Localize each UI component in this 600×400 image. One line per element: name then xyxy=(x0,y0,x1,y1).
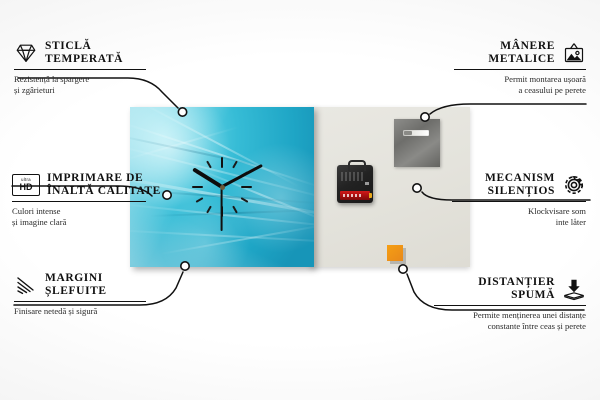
feature-description: Permite menținerea unei distanțe constan… xyxy=(418,310,586,331)
diamond-icon xyxy=(14,41,38,65)
feature-rule xyxy=(14,301,146,302)
feature-description: Permit montarea ușoară a ceasului pe per… xyxy=(436,74,586,95)
feature-header: MÂNERE METALICE xyxy=(436,40,586,66)
product-photo xyxy=(130,107,470,274)
polished-edges-icon xyxy=(14,273,38,297)
feature-title: MÂNERE METALICE xyxy=(488,40,555,66)
mechanism-label xyxy=(341,172,363,181)
gear-icon xyxy=(562,173,586,197)
mechanism-hook xyxy=(348,160,366,171)
feature-header: MECANISM SILENȚIOS xyxy=(436,172,586,198)
clock-mechanism xyxy=(337,165,373,203)
feature-title: DISTANȚIER SPUMĂ xyxy=(478,276,555,302)
feature-rule xyxy=(454,69,586,70)
feature-silent-mechanism[interactable]: MECANISM SILENȚIOS Klockvisare som inte … xyxy=(436,172,586,228)
feature-header: STICLĂ TEMPERATĂ xyxy=(14,40,164,66)
feature-metal-hangers[interactable]: MÂNERE METALICE Permit montarea ușoară a… xyxy=(436,40,586,96)
feature-header: DISTANȚIER SPUMĂ xyxy=(418,276,586,302)
feature-description: Culori intense și imagine clară xyxy=(12,206,164,227)
feature-polished-edges[interactable]: MARGINI ȘLEFUITE Finisare netedă și sigu… xyxy=(14,272,164,317)
feature-hd-print[interactable]: ultra HD IMPRIMARE DE ÎNALTĂ CALITATE Cu… xyxy=(12,172,164,228)
clock-pivot xyxy=(220,185,225,190)
foam-spacer xyxy=(387,245,403,261)
feature-description: Finisare netedă și sigură xyxy=(14,306,164,317)
feature-description: Rezistență la spargere și zgârieturi xyxy=(14,74,164,95)
ultra-hd-icon: ultra HD xyxy=(12,174,40,196)
feature-rule xyxy=(12,201,146,202)
wall-hanger-icon xyxy=(562,41,586,65)
battery xyxy=(340,191,370,200)
feature-title: STICLĂ TEMPERATĂ xyxy=(45,40,123,66)
feature-title: MECANISM SILENȚIOS xyxy=(485,172,555,198)
wall-hanger-plate xyxy=(394,119,440,167)
feature-tempered-glass[interactable]: STICLĂ TEMPERATĂ Rezistență la spargere … xyxy=(14,40,164,96)
feature-description: Klockvisare som inte låter xyxy=(436,206,586,227)
hanger-slot xyxy=(403,130,429,136)
second-hand xyxy=(221,187,223,231)
infographic-canvas: STICLĂ TEMPERATĂ Rezistență la spargere … xyxy=(0,0,600,400)
feature-title: MARGINI ȘLEFUITE xyxy=(45,272,107,298)
feature-header: ultra HD IMPRIMARE DE ÎNALTĂ CALITATE xyxy=(12,172,164,198)
foam-spacer-icon xyxy=(562,277,586,301)
feature-title: IMPRIMARE DE ÎNALTĂ CALITATE xyxy=(47,172,161,198)
feature-foam-spacer[interactable]: DISTANȚIER SPUMĂ Permite menținerea unei… xyxy=(418,276,586,332)
mechanism-screw xyxy=(365,182,369,185)
feature-rule xyxy=(14,69,146,70)
feature-rule xyxy=(434,305,586,306)
feature-rule xyxy=(452,201,586,202)
feature-header: MARGINI ȘLEFUITE xyxy=(14,272,164,298)
